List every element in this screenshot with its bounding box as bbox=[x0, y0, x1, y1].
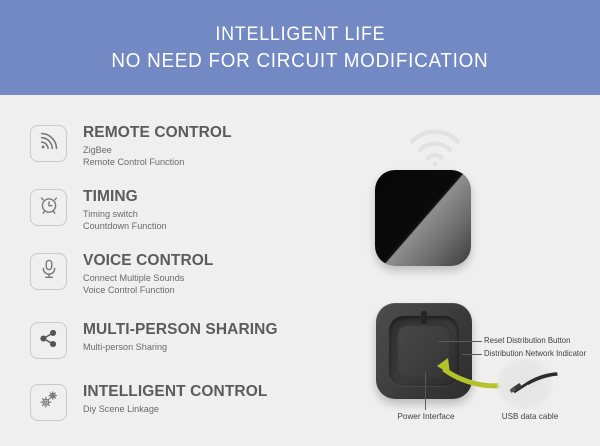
infographic-page: INTELLIGENT LIFE NO NEED FOR CIRCUIT MOD… bbox=[0, 0, 600, 446]
device-top-tab bbox=[421, 311, 427, 324]
feature-subtitle-1: ZigBee bbox=[83, 145, 224, 158]
feature-subtitle-1: Timing switch bbox=[83, 209, 167, 222]
usb-cable-photo bbox=[497, 358, 559, 410]
usb-connector-icon bbox=[497, 358, 559, 410]
header-title-line2: NO NEED FOR CIRCUIT MODIFICATION bbox=[111, 47, 488, 74]
feature-title: TIMING bbox=[83, 189, 171, 206]
feature-title: REMOTE CONTROL bbox=[83, 125, 232, 142]
callout-reset-distribution-button: Reset Distribution Button bbox=[484, 336, 570, 345]
feature-text-timing: TIMING Timing switch Countdown Function bbox=[83, 189, 171, 234]
gears-icon-box bbox=[30, 384, 67, 421]
smart-gateway-front-image bbox=[375, 170, 471, 266]
wifi-waves-icon bbox=[405, 127, 465, 167]
feature-item-remote-control: REMOTE CONTROL ZigBee Remote Control Fun… bbox=[30, 125, 232, 170]
alarm-clock-icon bbox=[38, 194, 60, 221]
header-title-line1: INTELLIGENT LIFE bbox=[215, 21, 385, 47]
microphone-icon bbox=[38, 258, 60, 285]
feature-item-multi-person-sharing: MULTI-PERSON SHARING Multi-person Sharin… bbox=[30, 322, 278, 359]
feature-text-intelligent-control: INTELLIGENT CONTROL Diy Scene Linkage bbox=[83, 384, 267, 416]
feature-text-voice-control: VOICE CONTROL Connect Multiple Sounds Vo… bbox=[83, 253, 213, 298]
callout-power-interface: Power Interface bbox=[390, 412, 462, 421]
leader-line-power-interface bbox=[425, 372, 426, 410]
feature-title: MULTI-PERSON SHARING bbox=[83, 322, 278, 339]
leader-line-reset-button bbox=[438, 341, 482, 342]
feature-subtitle-2: Voice Control Function bbox=[83, 285, 207, 298]
callout-usb-data-cable: USB data cable bbox=[494, 412, 566, 421]
power-interface-arrow bbox=[415, 355, 510, 391]
callout-distribution-network-indicator: Distribution Network Indicator bbox=[484, 349, 586, 358]
leader-line-network-indicator bbox=[462, 354, 482, 355]
feature-text-remote-control: REMOTE CONTROL ZigBee Remote Control Fun… bbox=[83, 125, 232, 170]
share-nodes-icon-box bbox=[30, 322, 67, 359]
gears-icon bbox=[38, 389, 60, 416]
feature-text-multi-person-sharing: MULTI-PERSON SHARING Multi-person Sharin… bbox=[83, 322, 278, 354]
feature-title: INTELLIGENT CONTROL bbox=[83, 384, 267, 401]
feature-title: VOICE CONTROL bbox=[83, 253, 213, 270]
microphone-icon-box bbox=[30, 253, 67, 290]
alarm-clock-icon-box bbox=[30, 189, 67, 226]
wifi-signal-icon-box bbox=[30, 125, 67, 162]
feature-item-intelligent-control: INTELLIGENT CONTROL Diy Scene Linkage bbox=[30, 384, 267, 421]
wifi-signal-icon bbox=[38, 130, 60, 157]
feature-subtitle-1: Diy Scene Linkage bbox=[83, 404, 258, 417]
header-banner: INTELLIGENT LIFE NO NEED FOR CIRCUIT MOD… bbox=[0, 0, 600, 95]
share-nodes-icon bbox=[38, 328, 59, 354]
feature-subtitle-2: Remote Control Function bbox=[83, 157, 224, 170]
feature-subtitle-1: Connect Multiple Sounds bbox=[83, 273, 207, 286]
feature-subtitle-1: Multi-person Sharing bbox=[83, 342, 268, 355]
feature-subtitle-2: Countdown Function bbox=[83, 221, 167, 234]
feature-item-voice-control: VOICE CONTROL Connect Multiple Sounds Vo… bbox=[30, 253, 213, 298]
feature-list: REMOTE CONTROL ZigBee Remote Control Fun… bbox=[0, 95, 340, 446]
feature-item-timing: TIMING Timing switch Countdown Function bbox=[30, 189, 171, 234]
